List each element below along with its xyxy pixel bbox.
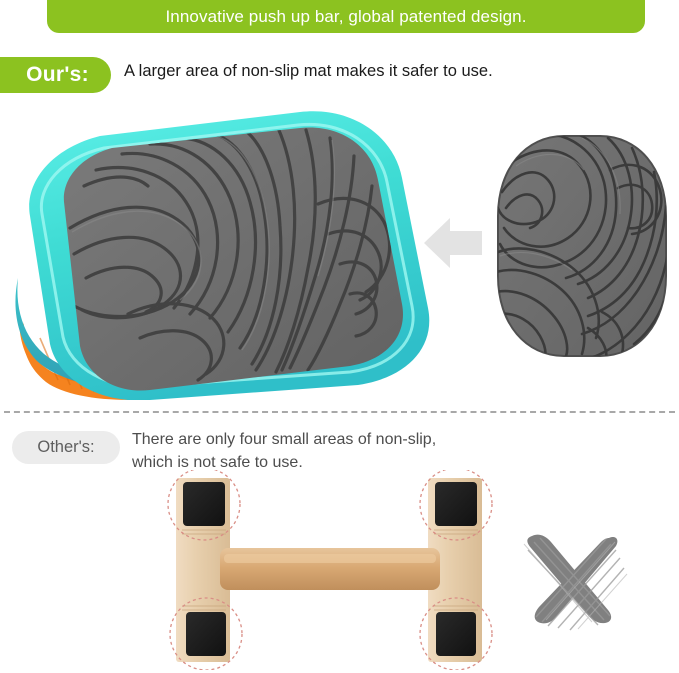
infographic-page: Innovative push up bar, global patented …: [0, 0, 679, 673]
others-badge-label: Other's:: [37, 438, 94, 457]
others-headline-line1: There are only four small areas of non-s…: [132, 431, 436, 448]
non-slip-mat-illustration: [492, 132, 672, 360]
others-product-image: [160, 470, 510, 670]
ours-badge: Our's:: [0, 57, 111, 93]
arrow-left-icon: [420, 212, 490, 274]
push-up-bar-pad-illustration: [0, 108, 460, 400]
handle-highlight: [224, 554, 436, 563]
x-mark-icon: [512, 524, 634, 634]
others-headline: There are only four small areas of non-s…: [132, 428, 552, 474]
wooden-push-up-bar-illustration: [160, 470, 510, 670]
ours-badge-label: Our's:: [22, 63, 89, 87]
non-slip-mat-swatch: [492, 132, 672, 360]
ours-headline: A larger area of non-slip mat makes it s…: [124, 62, 493, 81]
pad-bottom-left: [186, 612, 226, 656]
ours-product-image: [0, 108, 460, 400]
header-banner-text: Innovative push up bar, global patented …: [165, 5, 526, 25]
section-divider: [4, 411, 675, 413]
pad-top-right: [435, 482, 477, 526]
pad-top-left: [183, 482, 225, 526]
others-badge: Other's:: [12, 431, 120, 464]
header-banner: Innovative push up bar, global patented …: [47, 0, 645, 33]
verdict-x: [512, 524, 634, 634]
pad-bottom-right: [436, 612, 476, 656]
comparison-arrow: [420, 212, 490, 274]
